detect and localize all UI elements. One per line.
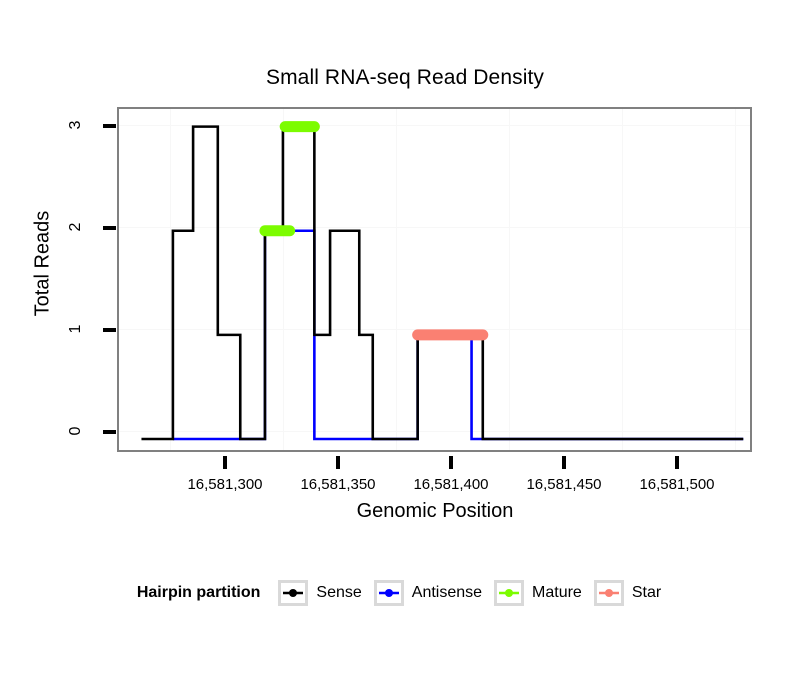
x-axis-label: Genomic Position [117, 500, 753, 523]
y-tick-label-1: 1 [67, 309, 85, 349]
legend-key-mature[interactable] [494, 580, 524, 606]
plot-area [117, 107, 752, 452]
y-tick-label-3: 3 [67, 105, 85, 145]
legend-key-sense[interactable] [278, 580, 308, 606]
chart-legend: Hairpin partition Sense Antisense [0, 580, 810, 606]
y-tick-label-0: 0 [67, 411, 85, 451]
legend-entry-mature[interactable]: Mature [494, 580, 586, 606]
series-mature [265, 127, 314, 231]
y-tick-label-2: 2 [67, 207, 85, 247]
legend-label-star: Star [632, 584, 661, 602]
x-tick-mark-4 [675, 456, 679, 469]
line-point-icon [598, 586, 620, 600]
line-point-icon [498, 586, 520, 600]
y-tick-mark-2 [103, 226, 116, 230]
x-tick-mark-1 [336, 456, 340, 469]
legend-entry-star[interactable]: Star [594, 580, 665, 606]
x-tick-mark-3 [562, 456, 566, 469]
y-tick-mark-3 [103, 124, 116, 128]
y-tick-mark-1 [103, 328, 116, 332]
x-tick-mark-0 [223, 456, 227, 469]
legend-key-antisense[interactable] [374, 580, 404, 606]
legend-title: Hairpin partition [137, 584, 261, 602]
y-axis-label: Total Reads [32, 164, 55, 364]
series-sense [141, 127, 743, 439]
legend-label-antisense: Antisense [412, 584, 482, 602]
legend-label-mature: Mature [532, 584, 582, 602]
read-density-traces [119, 109, 750, 450]
legend-entry-antisense[interactable]: Antisense [374, 580, 486, 606]
x-tick-mark-2 [449, 456, 453, 469]
legend-label-sense: Sense [316, 584, 361, 602]
legend-key-star[interactable] [594, 580, 624, 606]
chart-title: Small RNA-seq Read Density [0, 66, 810, 90]
x-tick-label-4: 16,581,500 [607, 476, 747, 493]
y-tick-mark-0 [103, 430, 116, 434]
line-point-icon [282, 586, 304, 600]
line-point-icon [378, 586, 400, 600]
chart-figure: Small RNA-seq Read Density Total Reads 3… [0, 0, 810, 690]
legend-entry-sense[interactable]: Sense [278, 580, 365, 606]
